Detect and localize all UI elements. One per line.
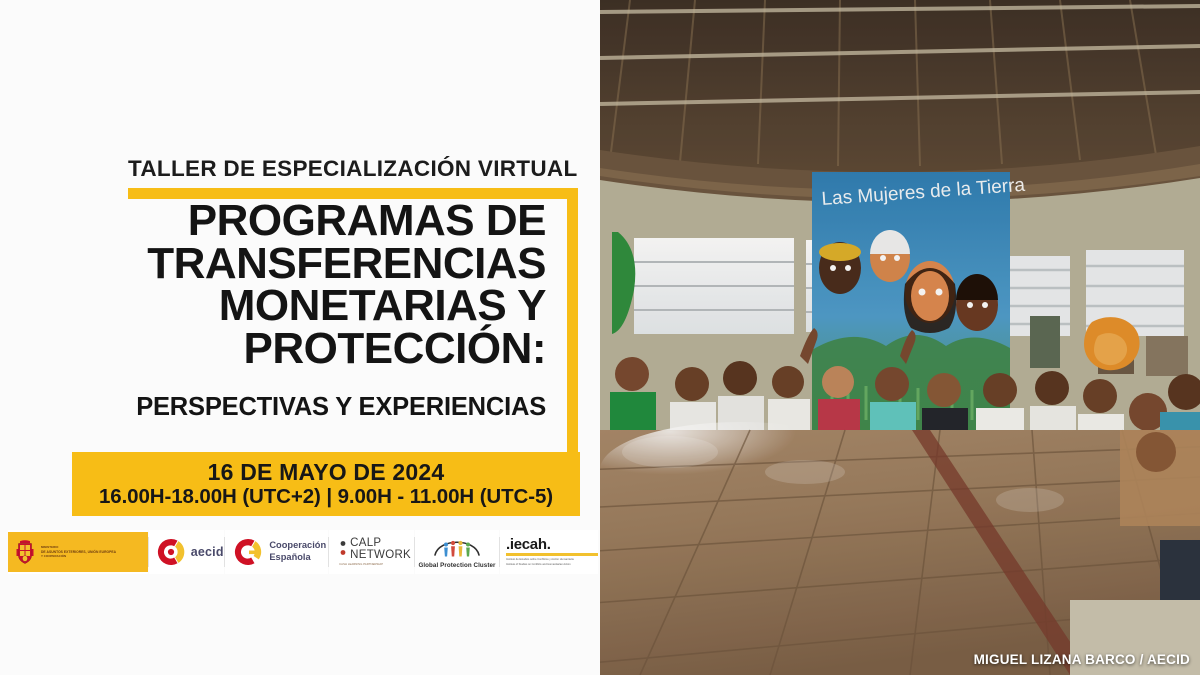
ministerio-line-3: Y COOPERACIÓN xyxy=(41,554,116,558)
logo-cooperacion-espanola: Cooperación Española xyxy=(225,530,328,574)
event-time: 16.00H-18.00H (UTC+2) | 9.00H - 11.00H (… xyxy=(99,486,553,508)
event-overline: TALLER DE ESPECIALIZACIÓN VIRTUAL xyxy=(128,156,578,182)
aecid-label: aecid xyxy=(191,545,224,559)
event-banner: TALLER DE ESPECIALIZACIÓN VIRTUAL PROGRA… xyxy=(0,0,1200,675)
protection-cluster-figures-icon xyxy=(429,535,485,561)
coopesp-line-1: Cooperación xyxy=(269,540,326,550)
calp-line-1: CALP xyxy=(350,538,411,550)
ministerio-line-2: DE ASUNTOS EXTERIORES, UNIÓN EUROPEA xyxy=(41,550,116,554)
event-title: PROGRAMAS DE TRANSFERENCIAS MONETARIAS Y… xyxy=(128,200,546,371)
event-date: 16 DE MAYO DE 2024 xyxy=(208,460,445,485)
iecah-tagline-en: Institute of Studies on Conflicts and Hu… xyxy=(506,563,571,567)
logo-calp-network: CALP NETWORK CASH LEARNING PARTNERSHIP xyxy=(329,530,414,574)
iecah-underline xyxy=(506,553,598,556)
spain-coat-of-arms-icon xyxy=(14,539,36,565)
title-block: PROGRAMAS DE TRANSFERENCIAS MONETARIAS Y… xyxy=(128,200,568,422)
logo-global-protection-cluster: Global Protection Cluster xyxy=(415,530,499,574)
date-time-slab: 16 DE MAYO DE 2024 16.00H-18.00H (UTC+2)… xyxy=(72,452,580,516)
cooperacion-espanola-label: Cooperación Española xyxy=(269,540,326,563)
event-subtitle: PERSPECTIVAS Y EXPERIENCIAS xyxy=(128,393,546,422)
sponsor-logo-strip: MINISTERIO DE ASUNTOS EXTERIORES, UNIÓN … xyxy=(8,528,598,576)
iecah-label: .iecah. xyxy=(506,537,551,552)
logo-ministerio: MINISTERIO DE ASUNTOS EXTERIORES, UNIÓN … xyxy=(8,530,148,574)
logo-aecid: aecid xyxy=(149,530,224,574)
calp-dots-icon xyxy=(339,539,348,561)
title-line-3: MONETARIAS Y xyxy=(128,285,546,328)
ministerio-label: MINISTERIO DE ASUNTOS EXTERIORES, UNIÓN … xyxy=(41,545,116,558)
photo-illustration: Las Mujeres de la Tierra xyxy=(600,0,1200,675)
iecah-tagline-es: Instituto de Estudios sobre Conflictos y… xyxy=(506,558,574,562)
coopesp-line-2: Española xyxy=(269,552,310,562)
gpc-label: Global Protection Cluster xyxy=(418,562,495,569)
calp-tagline: CASH LEARNING PARTNERSHIP xyxy=(339,563,383,566)
title-line-4: PROTECCIÓN: xyxy=(128,328,546,371)
photo-credit: MIGUEL LIZANA BARCO / AECID xyxy=(974,652,1190,667)
cooperacion-espanola-c-mark-icon xyxy=(233,537,263,567)
event-photo: Las Mujeres de la Tierra xyxy=(600,0,1200,675)
logo-iecah: .iecah. Instituto de Estudios sobre Conf… xyxy=(500,530,598,574)
left-content-panel: TALLER DE ESPECIALIZACIÓN VIRTUAL PROGRA… xyxy=(0,0,600,675)
aecid-c-mark-icon xyxy=(156,537,186,567)
title-line-2: TRANSFERENCIAS xyxy=(128,243,546,286)
calp-line-2: NETWORK xyxy=(350,550,411,562)
title-line-1: PROGRAMAS DE xyxy=(128,200,546,243)
